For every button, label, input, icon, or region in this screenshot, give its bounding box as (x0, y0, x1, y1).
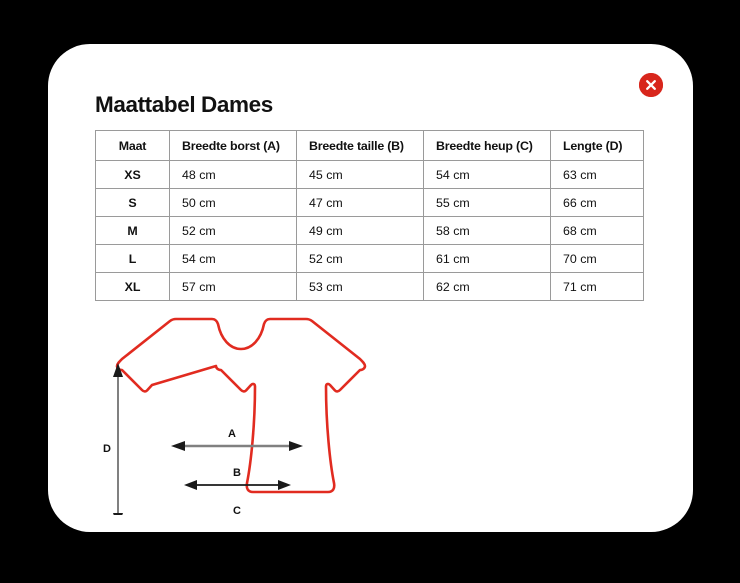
measurement-label-d: D (103, 443, 111, 455)
cell-waist: 45 cm (297, 161, 424, 189)
table-header-row: Maat Breedte borst (A) Breedte taille (B… (96, 131, 644, 161)
cell-length: 63 cm (551, 161, 644, 189)
cell-hip: 62 cm (424, 273, 551, 301)
cell-chest: 54 cm (170, 245, 297, 273)
cell-hip: 55 cm (424, 189, 551, 217)
size-chart-table: Maat Breedte borst (A) Breedte taille (B… (95, 130, 644, 301)
cell-waist: 52 cm (297, 245, 424, 273)
table-row: XS 48 cm 45 cm 54 cm 63 cm (96, 161, 644, 189)
cell-size: XS (96, 161, 170, 189)
size-chart-modal: Maattabel Dames Maat Breedte borst (A) B… (48, 44, 693, 532)
cell-hip: 61 cm (424, 245, 551, 273)
measurement-label-a: A (228, 428, 236, 440)
close-icon[interactable] (639, 73, 663, 97)
cell-size: XL (96, 273, 170, 301)
table-row: XL 57 cm 53 cm 62 cm 71 cm (96, 273, 644, 301)
measurement-arrow-d (113, 363, 123, 515)
cell-size: S (96, 189, 170, 217)
table-row: M 52 cm 49 cm 58 cm 68 cm (96, 217, 644, 245)
cell-hip: 54 cm (424, 161, 551, 189)
column-header-size: Maat (96, 131, 170, 161)
close-icon-glyph (639, 73, 663, 97)
table-body: XS 48 cm 45 cm 54 cm 63 cm S 50 cm 47 cm… (96, 161, 644, 301)
table-header: Maat Breedte borst (A) Breedte taille (B… (96, 131, 644, 161)
cell-chest: 50 cm (170, 189, 297, 217)
cell-length: 71 cm (551, 273, 644, 301)
cell-waist: 47 cm (297, 189, 424, 217)
tshirt-diagram-svg: D A B (95, 315, 395, 515)
cell-waist: 49 cm (297, 217, 424, 245)
cell-size: M (96, 217, 170, 245)
column-header-waist: Breedte taille (B) (297, 131, 424, 161)
measurement-label-b: B (233, 467, 241, 479)
column-header-chest: Breedte borst (A) (170, 131, 297, 161)
cell-length: 66 cm (551, 189, 644, 217)
table-row: S 50 cm 47 cm 55 cm 66 cm (96, 189, 644, 217)
cell-length: 68 cm (551, 217, 644, 245)
cell-size: L (96, 245, 170, 273)
cell-chest: 52 cm (170, 217, 297, 245)
column-header-hip: Breedte heup (C) (424, 131, 551, 161)
cell-length: 70 cm (551, 245, 644, 273)
tshirt-measurement-diagram: D A B (95, 315, 395, 515)
table-row: L 54 cm 52 cm 61 cm 70 cm (96, 245, 644, 273)
cell-chest: 57 cm (170, 273, 297, 301)
measurement-label-c: C (233, 505, 241, 515)
measurement-arrow-a (171, 441, 303, 451)
tshirt-outline-icon (117, 319, 365, 492)
cell-chest: 48 cm (170, 161, 297, 189)
column-header-length: Lengte (D) (551, 131, 644, 161)
screen: Maattabel Dames Maat Breedte borst (A) B… (0, 0, 740, 583)
cell-hip: 58 cm (424, 217, 551, 245)
measurement-arrow-b (184, 480, 291, 490)
cell-waist: 53 cm (297, 273, 424, 301)
page-title: Maattabel Dames (95, 91, 273, 118)
